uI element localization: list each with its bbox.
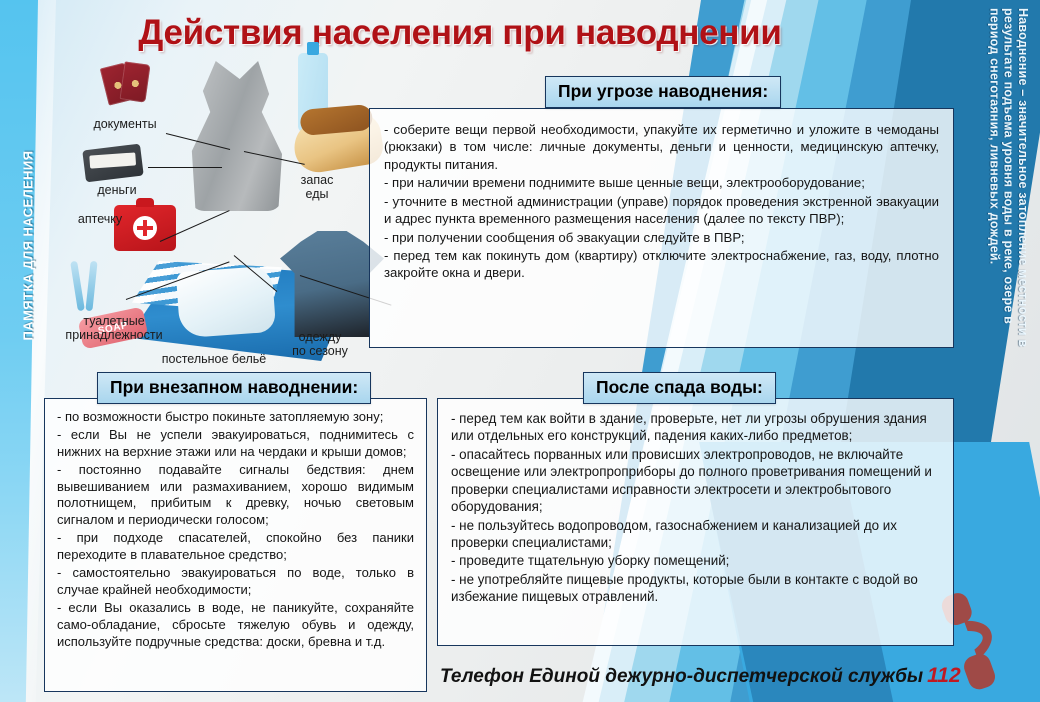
toothbrush-icon	[64, 261, 110, 313]
label-food: запас еды	[286, 173, 348, 202]
flood-definition-text: Наводнение – значительное затопление мес…	[987, 8, 1030, 348]
sudden-item: - при подходе спасателей, спокойно без п…	[57, 530, 414, 564]
emergency-phone-line: Телефон Единой дежурно-диспетчерской слу…	[440, 664, 961, 688]
label-documents: документы	[82, 117, 168, 131]
threat-item: - при получении сообщения об эвакуации с…	[384, 229, 939, 246]
memo-for-population-label: ПАМЯТКА ДЛЯ НАСЕЛЕНИЯ	[21, 126, 36, 366]
panel-flood-threat: - соберите вещи первой необходимости, уп…	[369, 108, 954, 348]
after-item: - опасайтесь порванных или провисших эле…	[451, 446, 940, 516]
leader-line-money	[148, 167, 222, 168]
threat-item: - соберите вещи первой необходимости, уп…	[384, 121, 939, 173]
label-money: деньги	[82, 183, 152, 197]
page-title: Действия населения при наводнении	[90, 13, 830, 53]
label-clothes: одежду по сезону	[278, 330, 362, 359]
heading-after-water-recedes: После спада воды:	[583, 372, 776, 404]
flood-definition-block: Наводнение – значительное затопление мес…	[940, 0, 1040, 360]
heading-flood-threat: При угрозе наводнения:	[545, 76, 781, 108]
emergency-phone-label: Телефон Единой дежурно-диспетчерской слу…	[440, 666, 923, 687]
sudden-item: - если Вы не успели эвакуироваться, подн…	[57, 427, 414, 461]
sudden-item: - если Вы оказались в воде, не паникуйте…	[57, 600, 414, 651]
threat-item: - уточните в местной администрации (упра…	[384, 193, 939, 228]
after-item: - перед тем как войти в здание, проверьт…	[451, 410, 940, 445]
wallet-icon	[82, 144, 143, 183]
after-item: - проведите тщательную уборку помещений;	[451, 552, 940, 569]
threat-item: - перед тем как покинуть дом (квартиру) …	[384, 247, 939, 282]
label-toiletries: туалетные принадлежности	[58, 314, 170, 343]
sudden-item: - по возможности быстро покиньте затопля…	[57, 409, 414, 426]
panel-sudden-flood-body: - по возможности быстро покиньте затопля…	[45, 399, 426, 661]
panel-after-water-recedes: - перед тем как войти в здание, проверьт…	[437, 398, 954, 646]
label-first-aid: аптечку	[62, 212, 138, 226]
sudden-item: - постоянно подавайте сигналы бедствия: …	[57, 462, 414, 530]
panel-sudden-flood: - по возможности быстро покиньте затопля…	[44, 398, 427, 692]
emergency-phone-number: 112	[927, 664, 960, 687]
poster-canvas: ПАМЯТКА ДЛЯ НАСЕЛЕНИЯ Наводнение – значи…	[0, 0, 1040, 702]
label-bedding: постельное бельё	[144, 352, 284, 366]
sudden-item: - самостоятельно эвакуироваться по воде,…	[57, 565, 414, 599]
grey-sack-icon	[190, 61, 282, 211]
panel-after-water-recedes-body: - перед тем как войти в здание, проверьт…	[438, 399, 953, 618]
after-item: - не употребляйте пищевые продукты, кото…	[451, 571, 940, 606]
passport-icon-2	[119, 61, 150, 102]
heading-sudden-flood: При внезапном наводнении:	[97, 372, 371, 404]
panel-flood-threat-body: - соберите вещи первой необходимости, уп…	[370, 109, 953, 293]
threat-item: - при наличии времени поднимите выше цен…	[384, 174, 939, 191]
after-item: - не пользуйтесь водопроводом, газоснабж…	[451, 517, 940, 552]
emergency-kit-illustration: SOAP документы деньги аптечку запас еды …	[48, 55, 408, 365]
